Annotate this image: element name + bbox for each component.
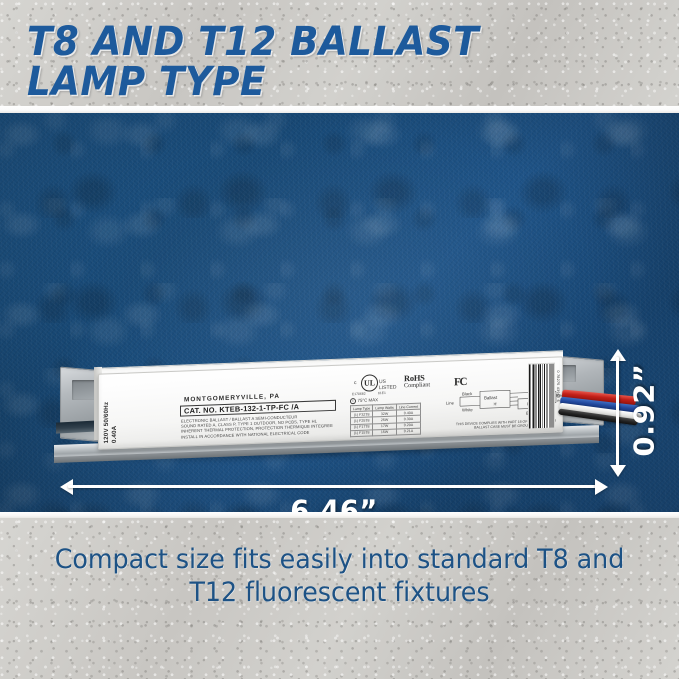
caption-text: Compact size fits easily into standard T…: [52, 543, 627, 609]
ul-suffix: US LISTED: [379, 379, 397, 392]
caption-band: Compact size fits easily into standard T…: [0, 518, 679, 679]
table-cell: (1) F15T8: [351, 430, 373, 437]
table-cell: 0.21A: [396, 428, 420, 435]
ul-certification-icon: c UL US LISTED E170682 61E1: [351, 374, 395, 396]
table-cell: 15W: [373, 429, 397, 436]
table-row: (1) F15T8 15W 0.21A: [351, 428, 421, 437]
rohs-compliance-icon: RoHS Compliant: [404, 373, 430, 389]
barcode-number: 0 78275 43952 6: [556, 370, 560, 402]
dimension-width-label: 6.46”: [76, 494, 591, 512]
rohs-sublabel: Compliant: [404, 381, 430, 389]
ul-file-number-right: 61E1: [378, 391, 386, 395]
arrow-right-icon: [595, 479, 608, 495]
wiring-ground-symbol: ✳: [493, 402, 497, 408]
label-fine-print: ELECTRONIC BALLAST / BALLAST A SEMI-COND…: [181, 412, 361, 440]
lamp-specification-table: Lamp Type Lamp Watts Line Current (1) F3…: [350, 403, 421, 438]
ul-prefix: c: [354, 380, 357, 386]
dimension-line-vertical: [616, 357, 619, 469]
product-hero-panel: 120V 50/60Hz 0.40A MONTGOMERYVILLE, PA C…: [0, 113, 679, 512]
wiring-label-black: Black: [462, 391, 473, 396]
header-banner: T8 AND T12 BALLAST LAMP TYPE: [0, 0, 679, 113]
label-catalog-number: CAT. NO. KTEB-132-1-TP-FC /A: [184, 402, 299, 415]
wiring-label-ballast: Ballast: [484, 395, 498, 401]
ul-file-number-left: E170682: [352, 392, 366, 397]
dimension-callout-width: 6.46”: [60, 475, 608, 512]
arrow-down-icon: [610, 465, 626, 477]
dimension-callout-height: 0.92”: [600, 349, 670, 477]
temperature-symbol-icon: t: [350, 398, 356, 404]
barcode-icon: [528, 363, 555, 430]
dimension-height-label: 0.92”: [628, 346, 660, 474]
wiring-label-white: White: [462, 407, 473, 412]
label-temperature-rating: t75°C MAX: [350, 397, 378, 404]
ul-monogram: UL: [361, 374, 378, 392]
temperature-rating-text: 75°C MAX: [358, 397, 379, 403]
page-title: T8 AND T12 BALLAST LAMP TYPE: [27, 22, 585, 102]
dimension-line-horizontal: [68, 485, 600, 488]
label-voltage-rating: 120V 50/60Hz 0.40A: [103, 379, 121, 444]
header-divider: [0, 106, 679, 113]
ballast-product-image: 120V 50/60Hz 0.40A MONTGOMERYVILLE, PA C…: [54, 349, 625, 475]
wiring-label-line: Line: [446, 400, 455, 405]
